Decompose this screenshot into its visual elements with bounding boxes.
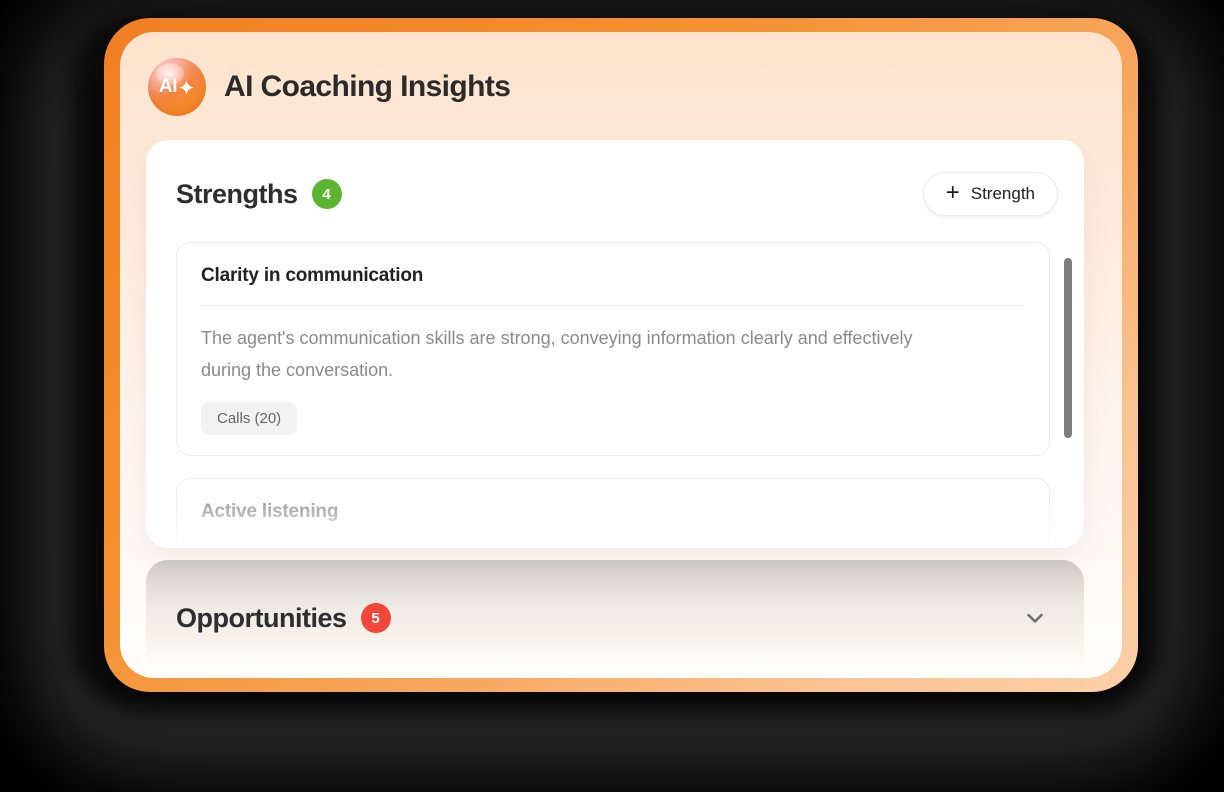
strength-calls-tag[interactable]: Calls (20) [201,402,297,435]
strengths-list[interactable]: Clarity in communication The agent's com… [146,242,1084,548]
ai-badge-text: AI [159,76,177,98]
panel-header: AI AI Coaching Insights [148,58,510,116]
scrollbar-thumb[interactable] [1064,258,1072,438]
insights-panel: AI AI Coaching Insights Strengths 4 [120,32,1122,678]
strengths-heading: Strengths [176,179,298,210]
strength-title: Active listening [201,501,1025,523]
list-item[interactable]: Active listening [176,478,1050,548]
strength-title: Clarity in communication [201,265,1025,287]
opportunities-title-group: Opportunities 5 [176,603,391,634]
ai-logo-badge: AI [148,58,206,116]
card-divider [201,305,1025,306]
page-title: AI Coaching Insights [224,70,510,104]
card-divider [201,541,1025,542]
chevron-down-icon[interactable] [1022,605,1048,631]
opportunities-count-badge: 5 [361,603,391,633]
strengths-title-group: Strengths 4 [176,179,342,210]
strength-description: The agent's communication skills are str… [201,322,931,386]
ai-badge-label: AI [159,76,195,98]
opportunities-section[interactable]: Opportunities 5 [146,560,1084,676]
plus-icon: + [946,181,960,205]
add-strength-label: Strength [971,184,1035,204]
strengths-count-badge: 4 [312,179,342,209]
strengths-scrollbar[interactable] [1064,258,1072,542]
strengths-header: Strengths 4 + Strength [176,172,1058,216]
screen-background: AI AI Coaching Insights Strengths 4 [0,0,1224,792]
strengths-section: Strengths 4 + Strength Clarity in commun… [146,140,1084,548]
sparkle-icon [178,79,195,96]
device-frame: AI AI Coaching Insights Strengths 4 [104,18,1138,692]
add-strength-button[interactable]: + Strength [923,172,1058,216]
list-item[interactable]: Clarity in communication The agent's com… [176,242,1050,456]
opportunities-heading: Opportunities [176,603,347,634]
